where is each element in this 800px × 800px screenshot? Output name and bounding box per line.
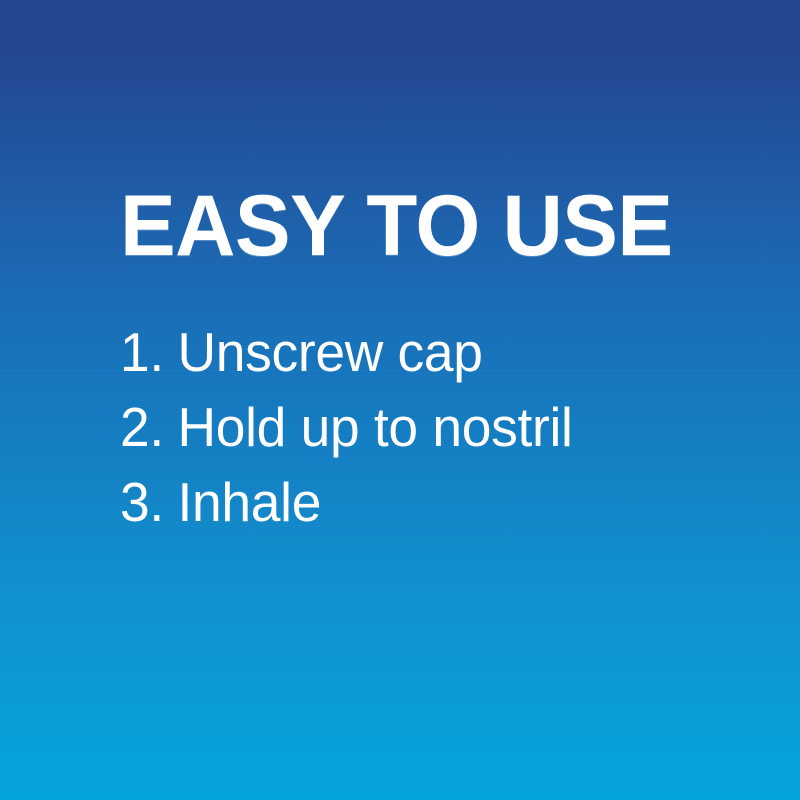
instruction-steps-list: 1. Unscrew cap 2. Hold up to nostril 3. … <box>120 315 760 540</box>
list-item: 2. Hold up to nostril <box>120 390 741 465</box>
step-number: 2. <box>120 390 164 465</box>
page-title: EASY TO USE <box>120 186 741 267</box>
poster-content: EASY TO USE 1. Unscrew cap 2. Hold up to… <box>120 186 760 540</box>
list-item: 1. Unscrew cap <box>120 315 741 390</box>
product-instruction-poster: EASY TO USE 1. Unscrew cap 2. Hold up to… <box>0 0 800 800</box>
step-label: Unscrew cap <box>178 315 483 390</box>
step-number: 3. <box>120 465 164 540</box>
step-number: 1. <box>120 315 164 390</box>
list-item: 3. Inhale <box>120 465 741 540</box>
step-label: Inhale <box>178 465 322 540</box>
step-label: Hold up to nostril <box>178 390 573 465</box>
